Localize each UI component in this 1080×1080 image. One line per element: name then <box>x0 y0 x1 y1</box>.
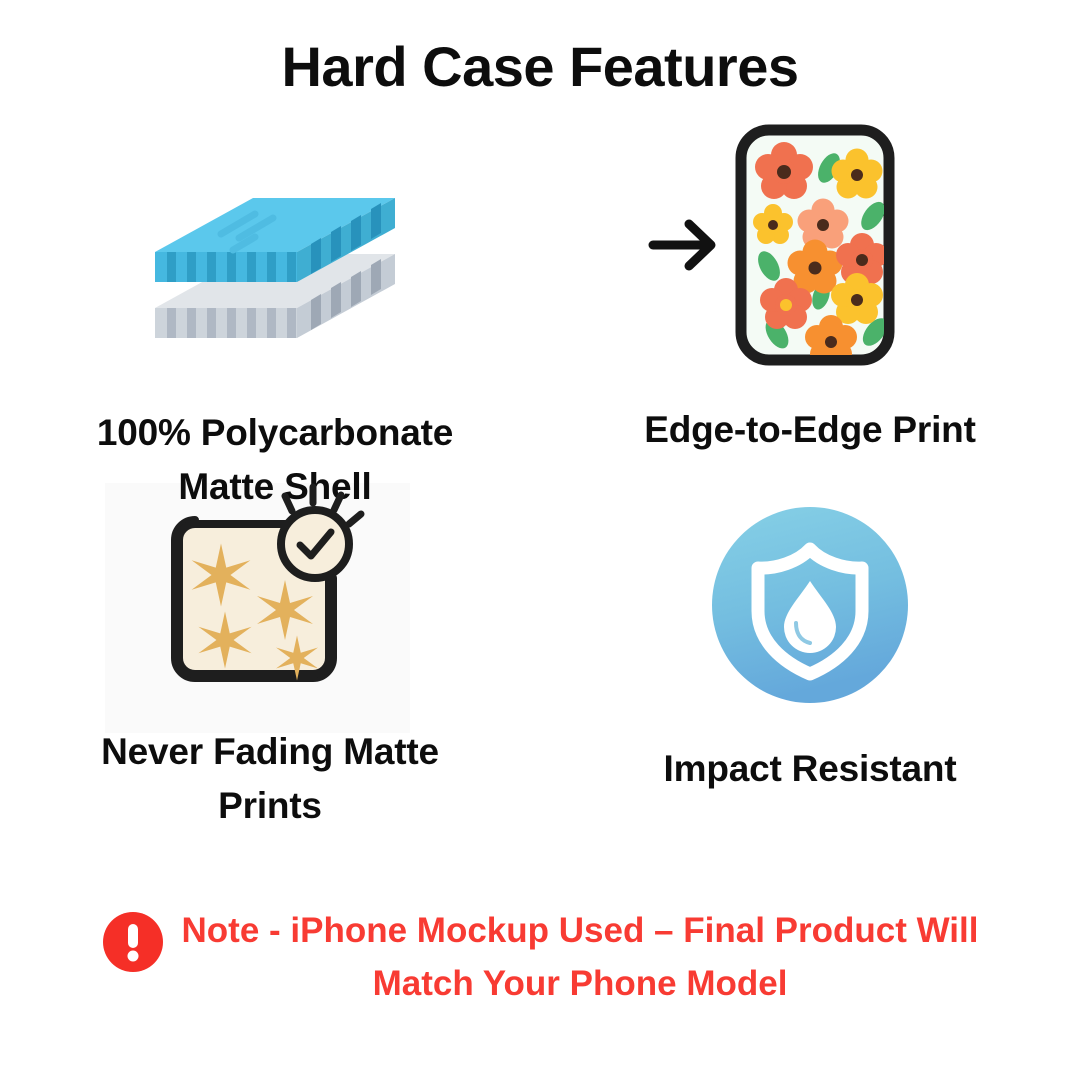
layered-slabs-icon <box>135 160 415 380</box>
feature-card-never-fading: Never Fading Matte Prints <box>20 470 520 832</box>
floral-phone-case-icon <box>645 120 975 375</box>
arrow-right-icon <box>653 224 711 266</box>
sparkle-square-check-icon <box>145 470 395 705</box>
feature-card-impact-resistant: Impact Resistant <box>560 505 1060 796</box>
exclamation-circle-icon <box>102 911 164 978</box>
feature-label-impact-resistant: Impact Resistant <box>664 742 957 796</box>
feature-card-polycarbonate: 100% Polycarbonate Matte Shell <box>30 160 520 513</box>
feature-card-edge-to-edge: Edge-to-Edge Print <box>560 120 1060 457</box>
infographic-page: Hard Case Features <box>0 0 1080 1080</box>
feature-label-never-fading: Never Fading Matte Prints <box>101 725 439 832</box>
shield-droplet-icon <box>710 505 910 710</box>
note-banner: Note - iPhone Mockup Used – Final Produc… <box>0 905 1080 1010</box>
note-text: Note - iPhone Mockup Used – Final Produc… <box>182 905 979 1010</box>
page-title: Hard Case Features <box>0 34 1080 99</box>
feature-label-edge-to-edge: Edge-to-Edge Print <box>644 403 975 457</box>
